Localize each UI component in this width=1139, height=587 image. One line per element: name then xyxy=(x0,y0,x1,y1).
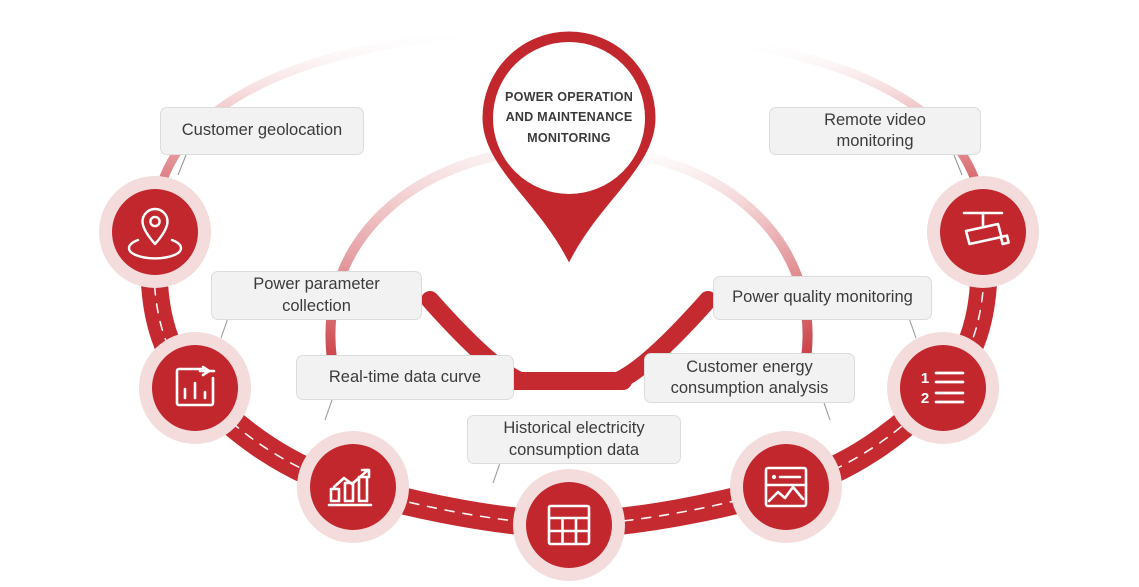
label-real-time-data-curve[interactable]: Real-time data curve xyxy=(296,355,514,400)
node-power-parameter-collection[interactable] xyxy=(139,332,251,444)
list-number-two: 2 xyxy=(921,390,929,407)
node-circle xyxy=(112,189,198,275)
diagram-canvas: 1 2 xyxy=(0,0,1139,587)
node-circle xyxy=(743,444,829,530)
label-power-parameter-collection[interactable]: Power parameter collection xyxy=(211,271,422,320)
node-circle xyxy=(526,482,612,568)
leader-power-quality xyxy=(909,318,916,338)
node-circle xyxy=(940,189,1026,275)
node-circle xyxy=(900,345,986,431)
label-customer-energy-analysis[interactable]: Customer energy consumption analysis xyxy=(644,353,855,403)
node-power-quality-monitoring[interactable]: 1 2 xyxy=(887,332,999,444)
list-number-one: 1 xyxy=(921,370,929,387)
node-customer-geolocation[interactable] xyxy=(99,176,211,288)
leader-historical xyxy=(493,463,500,483)
node-real-time-data-curve[interactable] xyxy=(297,431,409,543)
node-historical-electricity[interactable] xyxy=(513,469,625,581)
node-customer-energy-analysis[interactable] xyxy=(730,431,842,543)
leader-real-time-curve xyxy=(325,400,332,420)
node-remote-video-monitoring[interactable] xyxy=(927,176,1039,288)
label-power-quality-monitoring[interactable]: Power quality monitoring xyxy=(713,276,932,320)
label-remote-video-monitoring[interactable]: Remote video monitoring xyxy=(769,107,981,155)
leader-customer-geolocation xyxy=(178,155,186,175)
leader-customer-energy xyxy=(823,400,830,420)
leader-power-parameter xyxy=(221,318,228,338)
label-customer-geolocation[interactable]: Customer geolocation xyxy=(160,107,364,155)
label-historical-electricity[interactable]: Historical electricity consumption data xyxy=(467,415,681,464)
page-title: POWER OPERATION AND MAINTENANCE MONITORI… xyxy=(494,87,644,148)
